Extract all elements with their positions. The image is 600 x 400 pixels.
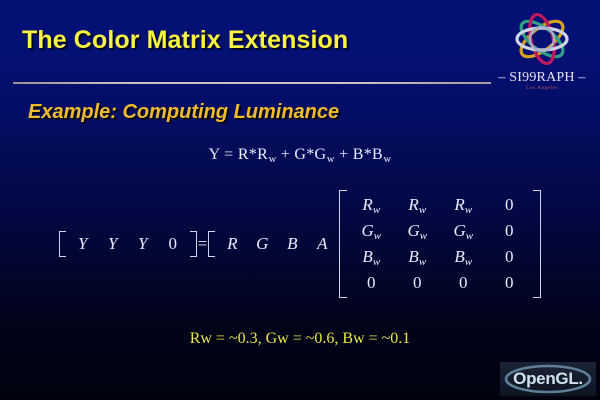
matrix-cell-1-0: Gw [348,218,394,244]
color-matrix: Rw Rw Rw 0 Gw Gw Gw 0 Bw Bw Bw 0 0 0 0 0 [339,190,541,298]
result-cell-2: Y [128,234,158,254]
bracket-right [190,231,197,257]
opengl-wordmark: OpenGL. [500,362,596,396]
input-vector: R G B A [208,231,339,257]
result-vector: Y Y Y 0 [59,231,197,257]
formula-equals: = [224,146,233,163]
formula-term-r: R*Rw [238,146,281,163]
matrix-cell-2-2: Bw [440,244,486,270]
siggraph-logo: – SI99RAPH – Los Angeles [490,8,594,96]
formula-term-b: B*Bw [353,146,392,163]
result-cell-3: 0 [158,234,188,254]
formula-plus-1: + [281,146,290,163]
weight-values: Rw = ~0.3, Gw = ~0.6, Bw = ~0.1 [0,330,600,348]
matrix-cell-1-1: Gw [394,218,440,244]
matrix-cell-1-2: Gw [440,218,486,244]
title-divider [13,82,491,84]
slide-subtitle: Example: Computing Luminance [28,101,339,124]
matrix-cell-2-3: 0 [486,244,532,270]
equation-equals: = [197,234,209,254]
slide-canvas: The Color Matrix Extension Example: Comp… [0,0,600,400]
input-cell-1: G [247,234,277,254]
matrix-cell-0-1: Rw [394,192,440,218]
input-cell-3: A [307,234,337,254]
siggraph-rings-icon [490,8,594,74]
opengl-logo: OpenGL. [500,362,596,396]
matrix-cell-0-2: Rw [440,192,486,218]
bracket-left [208,231,215,257]
result-cell-1: Y [98,234,128,254]
matrix-cell-3-1: 0 [394,270,440,296]
matrix-equation: Y Y Y 0 = R G B A Rw Rw Rw 0 [0,190,600,298]
matrix-cell-3-2: 0 [440,270,486,296]
input-cell-0: R [217,234,247,254]
matrix-bracket-right [533,190,541,298]
matrix-grid: Rw Rw Rw 0 Gw Gw Gw 0 Bw Bw Bw 0 0 0 0 0 [347,190,533,298]
formula-term-g: G*Gw [294,146,339,163]
formula-plus-2: + [339,146,348,163]
matrix-cell-0-0: Rw [348,192,394,218]
matrix-cell-2-1: Bw [394,244,440,270]
siggraph-location: Los Angeles [490,85,594,91]
bracket-left [59,231,66,257]
matrix-cell-2-0: Bw [348,244,394,270]
input-cell-2: B [277,234,307,254]
matrix-cell-1-3: 0 [486,218,532,244]
matrix-bracket-left [339,190,347,298]
matrix-cell-0-3: 0 [486,192,532,218]
siggraph-wordmark: – SI99RAPH – [490,70,594,86]
matrix-cell-3-0: 0 [348,270,394,296]
matrix-cell-3-3: 0 [486,270,532,296]
luminance-formula: Y = R*Rw + G*Gw + B*Bw [0,146,600,165]
page-title: The Color Matrix Extension [22,26,348,55]
formula-lhs: Y [209,146,220,163]
result-cell-0: Y [68,234,98,254]
